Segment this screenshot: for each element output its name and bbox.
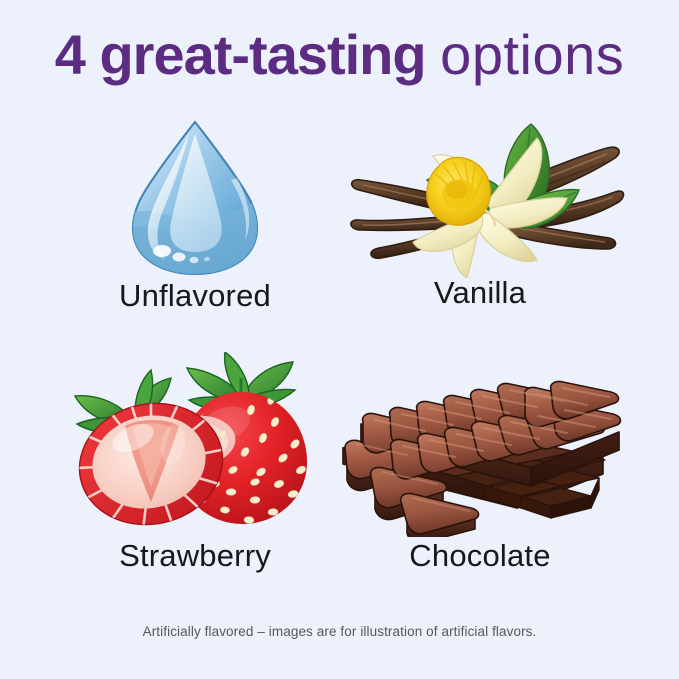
option-chocolate: Chocolate <box>335 352 625 592</box>
page-title: 4 great-tasting options <box>0 22 679 88</box>
disclaimer-text: Artificially flavored – images are for i… <box>0 624 679 639</box>
strawberry-icon <box>55 352 335 537</box>
water-droplet-icon <box>55 118 335 278</box>
option-label-chocolate: Chocolate <box>335 538 625 574</box>
option-label-unflavored: Unflavored <box>55 278 335 314</box>
option-unflavored: Unflavored <box>55 118 335 328</box>
option-label-vanilla: Vanilla <box>335 275 625 311</box>
vanilla-flower-and-beans-icon <box>335 118 625 278</box>
page-title-light: options <box>440 23 624 86</box>
option-label-strawberry: Strawberry <box>55 538 335 574</box>
page-title-bold: 4 great-tasting <box>55 23 426 86</box>
option-vanilla: Vanilla <box>335 118 625 328</box>
infographic-root: 4 great-tasting options <box>0 0 679 679</box>
option-strawberry: Strawberry <box>55 352 335 592</box>
chocolate-bars-icon <box>335 352 625 537</box>
